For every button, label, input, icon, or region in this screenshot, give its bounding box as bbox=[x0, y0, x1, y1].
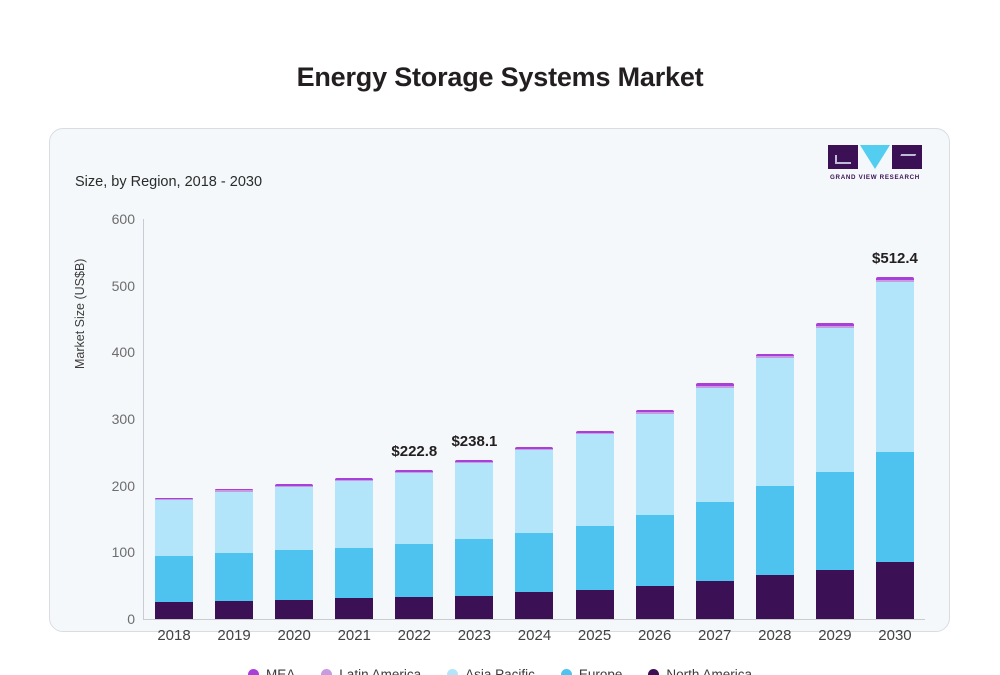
bar-stack[interactable] bbox=[155, 498, 193, 619]
chart-page: Energy Storage Systems Market Size, by R… bbox=[0, 0, 1000, 675]
bar-segment[interactable] bbox=[756, 358, 794, 486]
plot-area: Market Size (US$B) 0100200300400500600 2… bbox=[75, 219, 925, 669]
x-axis-line bbox=[143, 619, 925, 620]
legend-swatch-icon bbox=[248, 669, 259, 675]
y-axis-title: Market Size (US$B) bbox=[73, 259, 87, 369]
bar-segment[interactable] bbox=[515, 592, 553, 619]
bar-value-label: $512.4 bbox=[872, 250, 918, 267]
bar-segment[interactable] bbox=[155, 602, 193, 619]
bar-stack[interactable] bbox=[455, 460, 493, 619]
bar-column[interactable]: 2026 bbox=[625, 219, 685, 619]
bar-segment[interactable] bbox=[215, 601, 253, 619]
x-axis-tick: 2018 bbox=[157, 627, 190, 644]
chart-card: Size, by Region, 2018 - 2030 GRAND VIEW … bbox=[49, 128, 950, 632]
legend-item[interactable]: Asia Pacific bbox=[447, 667, 535, 675]
bar-segment[interactable] bbox=[455, 463, 493, 539]
bar-segment[interactable] bbox=[335, 598, 373, 619]
bar-segment[interactable] bbox=[215, 553, 253, 601]
bar-segment[interactable] bbox=[515, 533, 553, 592]
legend-item[interactable]: Europe bbox=[561, 667, 623, 675]
bar-stack[interactable] bbox=[215, 489, 253, 619]
bar-value-label: $222.8 bbox=[391, 443, 437, 460]
y-axis-tick: 300 bbox=[112, 411, 135, 427]
x-axis-tick: 2023 bbox=[458, 627, 491, 644]
page-title: Energy Storage Systems Market bbox=[0, 62, 1000, 93]
bar-segment[interactable] bbox=[395, 544, 433, 597]
bar-segment[interactable] bbox=[275, 600, 313, 619]
x-axis-tick: 2019 bbox=[217, 627, 250, 644]
bar-group: 2018201920202021$222.82022$238.120232024… bbox=[144, 219, 925, 619]
legend-label: Asia Pacific bbox=[465, 667, 535, 675]
x-axis-tick: 2029 bbox=[818, 627, 851, 644]
legend-label: Latin America bbox=[339, 667, 421, 675]
bar-column[interactable]: 2020 bbox=[264, 219, 324, 619]
bar-column[interactable]: $512.42030 bbox=[865, 219, 925, 619]
x-axis-tick: 2021 bbox=[338, 627, 371, 644]
bar-segment[interactable] bbox=[455, 539, 493, 596]
y-axis-tick: 0 bbox=[127, 611, 135, 627]
chart-subtitle: Size, by Region, 2018 - 2030 bbox=[75, 174, 262, 190]
legend-swatch-icon bbox=[648, 669, 659, 675]
bar-segment[interactable] bbox=[876, 452, 914, 561]
legend-label: Europe bbox=[579, 667, 623, 675]
bar-column[interactable]: 2018 bbox=[144, 219, 204, 619]
bar-column[interactable]: 2025 bbox=[565, 219, 625, 619]
logo-text: GRAND VIEW RESEARCH bbox=[827, 174, 923, 181]
bar-segment[interactable] bbox=[395, 473, 433, 544]
bar-segment[interactable] bbox=[816, 328, 854, 471]
y-axis-tick: 200 bbox=[112, 478, 135, 494]
bar-segment[interactable] bbox=[756, 575, 794, 619]
legend-item[interactable]: North America bbox=[648, 667, 752, 675]
bar-segment[interactable] bbox=[756, 486, 794, 575]
bar-segment[interactable] bbox=[576, 590, 614, 619]
y-axis-tick-labels: 0100200300400500600 bbox=[93, 219, 135, 619]
bar-stack[interactable] bbox=[515, 447, 553, 619]
bar-segment[interactable] bbox=[335, 481, 373, 548]
bar-segment[interactable] bbox=[576, 434, 614, 525]
bar-column[interactable]: 2024 bbox=[504, 219, 564, 619]
bar-segment[interactable] bbox=[155, 556, 193, 602]
bar-segment[interactable] bbox=[636, 414, 674, 515]
x-axis-tick: 2020 bbox=[277, 627, 310, 644]
bar-segment[interactable] bbox=[816, 472, 854, 570]
x-axis-tick: 2024 bbox=[518, 627, 551, 644]
bar-segment[interactable] bbox=[335, 548, 373, 598]
logo-r-icon bbox=[892, 145, 922, 169]
bar-segment[interactable] bbox=[515, 450, 553, 533]
bar-segment[interactable] bbox=[395, 597, 433, 619]
legend-label: MEA bbox=[266, 667, 295, 675]
logo-marks bbox=[827, 145, 923, 171]
x-axis-tick: 2026 bbox=[638, 627, 671, 644]
bar-column[interactable]: 2021 bbox=[324, 219, 384, 619]
chart-legend: MEALatin AmericaAsia PacificEuropeNorth … bbox=[75, 667, 925, 675]
y-axis-tick: 100 bbox=[112, 544, 135, 560]
bar-stack[interactable] bbox=[756, 354, 794, 619]
y-axis-tick: 400 bbox=[112, 344, 135, 360]
y-axis-tick: 500 bbox=[112, 278, 135, 294]
bar-column[interactable]: 2028 bbox=[745, 219, 805, 619]
x-axis-tick: 2025 bbox=[578, 627, 611, 644]
bar-segment[interactable] bbox=[696, 502, 734, 581]
y-axis-tick: 600 bbox=[112, 211, 135, 227]
bar-stack[interactable] bbox=[636, 410, 674, 619]
logo-g-icon bbox=[828, 145, 858, 169]
bar-segment[interactable] bbox=[215, 492, 253, 553]
bar-stack[interactable] bbox=[696, 383, 734, 619]
bar-stack[interactable] bbox=[816, 323, 854, 619]
bar-segment[interactable] bbox=[816, 570, 854, 619]
bar-stack[interactable] bbox=[395, 470, 433, 619]
x-axis-tick: 2027 bbox=[698, 627, 731, 644]
legend-item[interactable]: MEA bbox=[248, 667, 295, 675]
bar-column[interactable]: $222.82022 bbox=[384, 219, 444, 619]
bar-column[interactable]: 2029 bbox=[805, 219, 865, 619]
legend-swatch-icon bbox=[561, 669, 572, 675]
bar-stack[interactable] bbox=[335, 478, 373, 619]
legend-item[interactable]: Latin America bbox=[321, 667, 421, 675]
bar-segment[interactable] bbox=[275, 550, 313, 599]
grand-view-research-logo: GRAND VIEW RESEARCH bbox=[827, 145, 923, 181]
bar-column[interactable]: $238.12023 bbox=[444, 219, 504, 619]
bar-segment[interactable] bbox=[155, 500, 193, 556]
bar-stack[interactable] bbox=[275, 484, 313, 619]
bar-segment[interactable] bbox=[275, 487, 313, 550]
bar-value-label: $238.1 bbox=[451, 433, 497, 450]
bar-stack[interactable] bbox=[576, 431, 614, 619]
bar-segment[interactable] bbox=[876, 562, 914, 619]
x-axis-tick: 2028 bbox=[758, 627, 791, 644]
legend-swatch-icon bbox=[447, 669, 458, 675]
bar-column[interactable]: 2019 bbox=[204, 219, 264, 619]
x-axis-tick: 2030 bbox=[878, 627, 911, 644]
logo-v-icon bbox=[860, 145, 890, 169]
bar-segment[interactable] bbox=[696, 388, 734, 503]
bar-segment[interactable] bbox=[636, 586, 674, 619]
bar-segment[interactable] bbox=[876, 282, 914, 452]
bar-column[interactable]: 2027 bbox=[685, 219, 745, 619]
bar-segment[interactable] bbox=[455, 596, 493, 619]
bar-segment[interactable] bbox=[636, 515, 674, 586]
bar-segment[interactable] bbox=[696, 581, 734, 619]
legend-swatch-icon bbox=[321, 669, 332, 675]
bar-stack[interactable] bbox=[876, 277, 914, 619]
x-axis-tick: 2022 bbox=[398, 627, 431, 644]
bar-segment[interactable] bbox=[576, 526, 614, 590]
legend-label: North America bbox=[666, 667, 752, 675]
